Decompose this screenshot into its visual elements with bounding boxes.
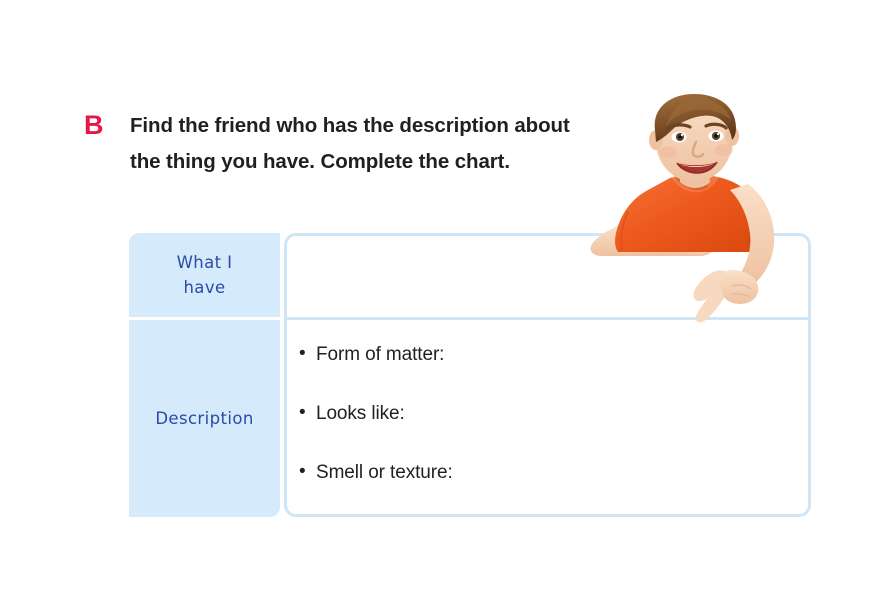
chart-label-text-description: Description <box>155 406 253 431</box>
description-prompt-list: Form of matter: Looks like: Smell or tex… <box>287 320 808 484</box>
boy-neck <box>680 154 710 188</box>
exercise-instruction: Find the friend who has the description … <box>130 108 604 180</box>
chart-label-text: What I have <box>177 250 233 300</box>
exercise-block: B Find the friend who has the descriptio… <box>84 108 604 180</box>
boy-head <box>649 94 739 182</box>
description-chart: What I have Description Form of matter: … <box>129 233 811 517</box>
chart-row-label-what-i-have: What I have <box>129 233 280 317</box>
list-item: Form of matter: <box>287 344 808 366</box>
chart-label-line-2: have <box>183 278 225 297</box>
list-item: Looks like: <box>287 403 808 425</box>
chart-row-label-description: Description <box>129 320 280 517</box>
list-item: Smell or texture: <box>287 462 808 484</box>
description-answer-field[interactable]: Form of matter: Looks like: Smell or tex… <box>284 317 811 517</box>
exercise-letter: B <box>84 112 104 139</box>
what-i-have-answer-field[interactable] <box>284 233 811 320</box>
chart-label-line-1: What I <box>177 253 233 272</box>
